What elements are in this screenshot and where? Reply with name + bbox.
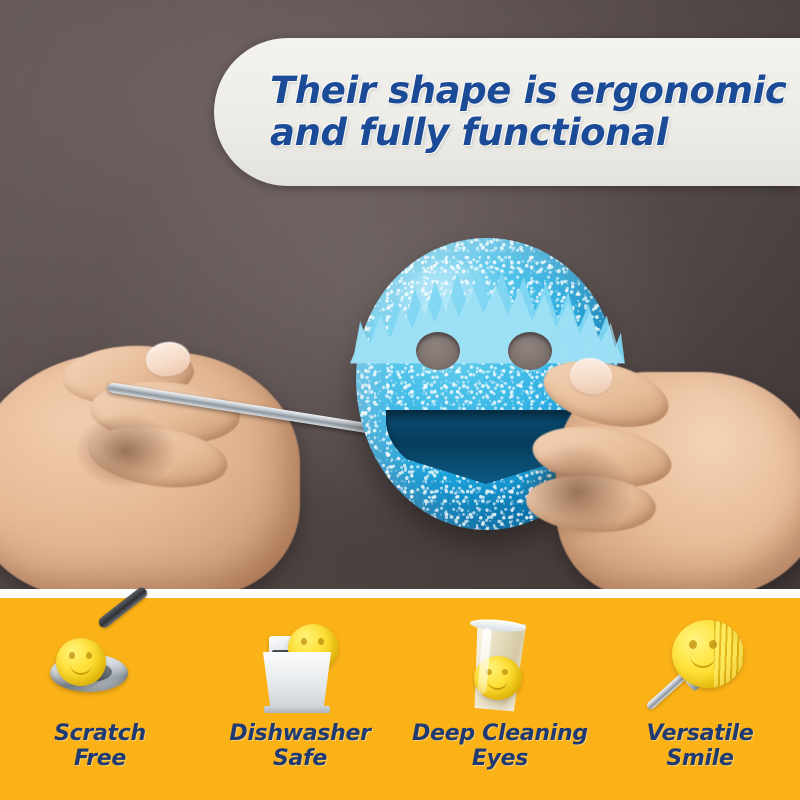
sponge-on-pan-icon: [42, 612, 158, 716]
label-line-1: Versatile: [647, 722, 754, 747]
hero-product-photo: Their shape is ergonomic and fully funct…: [0, 0, 800, 589]
mini-right-eye: [86, 652, 92, 659]
mini-left-eye: [301, 638, 307, 645]
mini-left-eye: [689, 640, 697, 649]
right-hand-shadow: [522, 444, 632, 540]
sponge-ridges: [714, 620, 744, 688]
feature-deep-cleaning-eyes: Deep Cleaning Eyes: [405, 612, 595, 771]
label-line-1: Scratch: [54, 722, 146, 747]
mini-right-eye: [318, 638, 324, 645]
feature-label-scratch-free: Scratch Free: [54, 722, 146, 771]
mini-right-eye: [709, 640, 717, 649]
mini-smile: [690, 654, 716, 668]
feature-label-deep-cleaning-eyes: Deep Cleaning Eyes: [412, 722, 588, 771]
headline-banner: Their shape is ergonomic and fully funct…: [214, 38, 800, 186]
fork-in-sponge-icon: [642, 612, 758, 716]
mini-smile: [70, 662, 92, 675]
feature-dishwasher-safe: Dishwasher Safe: [205, 612, 395, 771]
mini-right-eye: [502, 669, 508, 675]
right-hand: [556, 372, 800, 589]
feature-scratch-free: Scratch Free: [5, 612, 195, 771]
label-line-1: Dishwasher: [229, 722, 370, 747]
dish-rack-icon: [242, 612, 358, 716]
rack-basket: [260, 652, 334, 708]
sponge-right-eye: [508, 332, 552, 370]
mini-smile: [487, 678, 508, 690]
mini-left-eye: [69, 652, 75, 659]
ridged-smiley-sponge: [672, 620, 744, 688]
feature-label-dishwasher-safe: Dishwasher Safe: [229, 722, 370, 771]
feature-label-versatile-smile: Versatile Smile: [647, 722, 754, 771]
glass-with-sponge-icon: [442, 612, 558, 716]
left-hand-shadow: [76, 414, 176, 488]
section-divider: [0, 589, 800, 598]
label-line-2: Safe: [229, 747, 370, 772]
product-feature-banner: Their shape is ergonomic and fully funct…: [0, 0, 800, 800]
label-line-2: Eyes: [412, 747, 588, 772]
label-line-1: Deep Cleaning: [412, 722, 588, 747]
left-hand: [0, 352, 300, 589]
headline-line-1: Their shape is ergonomic: [270, 70, 786, 112]
headline-line-2: and fully functional: [270, 112, 668, 154]
feature-bar: Scratch Free Dishwasher Safe: [0, 598, 800, 800]
label-line-2: Free: [54, 747, 146, 772]
feature-versatile-smile: Versatile Smile: [605, 612, 795, 771]
rack-base: [264, 706, 330, 713]
label-line-2: Smile: [647, 747, 754, 772]
mini-smiley-sponge: [56, 638, 106, 686]
sponge-left-eye: [416, 332, 460, 370]
